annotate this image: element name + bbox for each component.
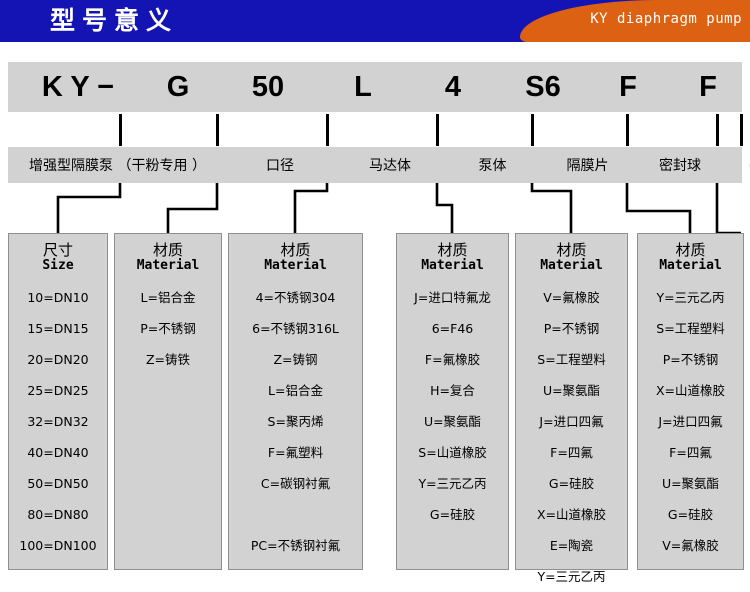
column-item: 40=DN40 [9, 437, 107, 468]
column-item: F=氟橡胶 [397, 344, 508, 375]
tick-mark [119, 114, 122, 146]
column-item: P=不锈钢 [638, 344, 743, 375]
column-header: 材质Material [397, 234, 508, 273]
connector-line [532, 183, 571, 233]
model-code-band: K Y −G50L4S6FF [8, 62, 742, 112]
column-item: 15=DN15 [9, 313, 107, 344]
part-label: 密封球 [635, 147, 725, 183]
detail-column-diaphragm-material: 材质MaterialJ=进口特氟龙6=F46F=氟橡胶H=复合U=聚氨酯S=山道… [396, 233, 509, 570]
connector-line [437, 183, 452, 233]
column-item: PC=不锈钢衬氟 [229, 530, 362, 561]
model-code-segment: L [318, 62, 408, 112]
column-item: V=氟橡胶 [516, 282, 627, 313]
part-label: 马达体 [335, 147, 445, 183]
column-title-en: Material [638, 259, 743, 274]
column-item: J=进口特氟龙 [397, 282, 508, 313]
column-item: U=聚氨酯 [638, 468, 743, 499]
column-title-en: Material [516, 259, 627, 274]
model-code-segment: F [668, 62, 748, 112]
column-header: 材质Material [516, 234, 627, 273]
tick-mark [326, 114, 329, 146]
column-item: 6=F46 [397, 313, 508, 344]
tick-mark [716, 114, 719, 146]
column-header: 材质Material [115, 234, 221, 273]
column-header: 材质Material [638, 234, 743, 273]
tick-mark [436, 114, 439, 146]
tick-mark [531, 114, 534, 146]
column-item: 25=DN25 [9, 375, 107, 406]
column-item: L=铝合金 [115, 282, 221, 313]
part-label: 泵体 [445, 147, 540, 183]
part-label: 密封座 [725, 147, 750, 183]
page-header: 型号意义 KY diaphragm pump [0, 0, 750, 42]
column-item-list: 4=不锈钢3046=不锈钢316LZ=铸钢L=铝合金S=聚丙烯F=氟塑料C=碳钢… [229, 282, 362, 561]
detail-column-pump-body-material: 材质Material4=不锈钢3046=不锈钢316LZ=铸钢L=铝合金S=聚丙… [228, 233, 363, 570]
column-item: 4=不锈钢304 [229, 282, 362, 313]
column-item: C=碳钢衬氟 [229, 468, 362, 499]
column-title-en: Material [397, 259, 508, 274]
column-item: G=硅胶 [397, 499, 508, 530]
column-item: V=氟橡胶 [638, 530, 743, 561]
column-item: J=进口四氟 [638, 406, 743, 437]
connector-line [717, 183, 741, 233]
connector-line [627, 183, 690, 233]
connector-line [295, 183, 327, 233]
column-item: P=不锈钢 [516, 313, 627, 344]
column-item: Z=铸钢 [229, 344, 362, 375]
column-title-cn: 材质 [397, 242, 508, 259]
column-item: F=氟塑料 [229, 437, 362, 468]
column-item: U=聚氨酯 [397, 406, 508, 437]
column-item-list: 10=DN1015=DN1520=DN2025=DN2532=DN3240=DN… [9, 282, 107, 561]
column-item: P=不锈钢 [115, 313, 221, 344]
column-header: 材质Material [229, 234, 362, 273]
column-item: 32=DN32 [9, 406, 107, 437]
column-item: 50=DN50 [9, 468, 107, 499]
column-item-list: L=铝合金P=不锈钢Z=铸铁 [115, 282, 221, 375]
tick-mark [740, 114, 743, 146]
column-item: 6=不锈钢316L [229, 313, 362, 344]
column-title-cn: 尺寸 [9, 242, 107, 259]
model-code-segment: 50 [218, 62, 318, 112]
column-item: F=四氟 [516, 437, 627, 468]
column-item: L=铝合金 [229, 375, 362, 406]
column-title-en: Size [9, 259, 107, 274]
model-code-segment: 4 [408, 62, 498, 112]
column-item: 80=DN80 [9, 499, 107, 530]
column-item: G=硅胶 [638, 499, 743, 530]
column-item: S=山道橡胶 [397, 437, 508, 468]
column-title-cn: 材质 [638, 242, 743, 259]
connector-line [168, 183, 217, 233]
column-item: Y=三元乙丙 [638, 282, 743, 313]
header-subtitle: KY diaphragm pump [590, 11, 742, 27]
detail-column-size: 尺寸Size10=DN1015=DN1520=DN2025=DN2532=DN3… [8, 233, 108, 570]
column-item: Z=铸铁 [115, 344, 221, 375]
detail-column-seal-seat-material: 材质MaterialY=三元乙丙S=工程塑料P=不锈钢X=山道橡胶J=进口四氟F… [637, 233, 744, 570]
page-title: 型号意义 [50, 4, 178, 38]
connector-lines [0, 183, 750, 233]
column-item: 10=DN10 [9, 282, 107, 313]
column-title-en: Material [115, 259, 221, 274]
column-item: 20=DN20 [9, 344, 107, 375]
column-item: S=工程塑料 [516, 344, 627, 375]
model-code-segment: F [588, 62, 668, 112]
column-item: F=四氟 [638, 437, 743, 468]
column-title-cn: 材质 [115, 242, 221, 259]
tick-mark [216, 114, 219, 146]
part-label: 增强型隔膜泵 （干粉专用 ） [10, 147, 225, 183]
part-label: 隔膜片 [540, 147, 635, 183]
column-item: U=聚氨酯 [516, 375, 627, 406]
column-item: Y=三元乙丙 [397, 468, 508, 499]
column-title-cn: 材质 [229, 242, 362, 259]
column-title-en: Material [229, 259, 362, 274]
detail-column-seal-ball-material: 材质MaterialV=氟橡胶P=不锈钢S=工程塑料U=聚氨酯J=进口四氟F=四… [515, 233, 628, 570]
column-item: S=工程塑料 [638, 313, 743, 344]
part-label: 口径 [225, 147, 335, 183]
part-label-band: 增强型隔膜泵 （干粉专用 ）口径马达体泵体隔膜片密封球密封座 [8, 147, 742, 183]
detail-column-motor-body-material: 材质MaterialL=铝合金P=不锈钢Z=铸铁 [114, 233, 222, 570]
column-item-list: Y=三元乙丙S=工程塑料P=不锈钢X=山道橡胶J=进口四氟F=四氟U=聚氨酯G=… [638, 282, 743, 561]
column-title-cn: 材质 [516, 242, 627, 259]
column-item: X=山道橡胶 [638, 375, 743, 406]
column-item: G=硅胶 [516, 468, 627, 499]
tick-mark [626, 114, 629, 146]
column-item: X=山道橡胶 [516, 499, 627, 530]
column-item: H=复合 [397, 375, 508, 406]
model-code-segment: G [138, 62, 218, 112]
column-item: J=进口四氟 [516, 406, 627, 437]
column-item: 100=DN100 [9, 530, 107, 561]
column-item-list: J=进口特氟龙6=F46F=氟橡胶H=复合U=聚氨酯S=山道橡胶Y=三元乙丙G=… [397, 282, 508, 530]
model-code-segment: S6 [498, 62, 588, 112]
column-item: Y=三元乙丙 [516, 561, 627, 592]
column-item: E=陶瓷 [516, 530, 627, 561]
column-item-list: V=氟橡胶P=不锈钢S=工程塑料U=聚氨酯J=进口四氟F=四氟G=硅胶X=山道橡… [516, 282, 627, 592]
model-code-segment: K Y − [18, 62, 138, 112]
column-item: S=聚丙烯 [229, 406, 362, 437]
column-header: 尺寸Size [9, 234, 107, 273]
connector-line [58, 183, 120, 233]
